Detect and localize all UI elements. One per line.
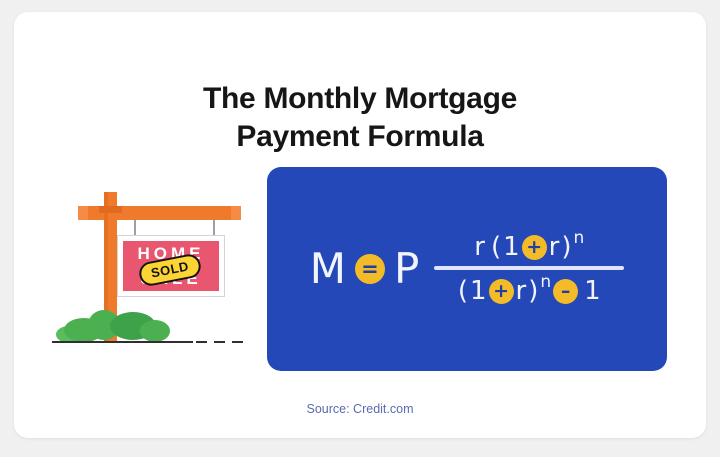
formula-variable-m: M (310, 248, 346, 290)
source-caption: Source: Credit.com (14, 402, 706, 416)
page-title: The Monthly Mortgage Payment Formula (14, 80, 706, 157)
ground-line (52, 341, 193, 343)
denominator-rate: r (516, 276, 527, 306)
plus-operator-badge-denominator: + (489, 279, 514, 304)
home-sale-sign-board: HOME SALE SOLD (117, 235, 225, 297)
equals-operator-badge: = (355, 254, 385, 284)
crossbeam-cap-left (78, 206, 88, 220)
numerator-one: 1 (503, 232, 520, 262)
denominator-open-paren: ( (458, 276, 468, 306)
page-title-line-1: The Monthly Mortgage (14, 80, 706, 118)
sign-post-collar (99, 206, 122, 213)
denominator-close-paren: ) (528, 276, 538, 306)
sign-hang-wire-left (134, 220, 136, 236)
denominator-exponent-n: n (540, 272, 551, 292)
crossbeam-cap-right (231, 206, 241, 220)
numerator-close-paren: ) (561, 232, 571, 262)
denominator-one: 1 (470, 276, 487, 306)
real-estate-sign-illustration: HOME SALE SOLD (44, 184, 269, 369)
numerator-rate-2: r (549, 232, 560, 262)
numerator-open-paren: ( (491, 232, 501, 262)
formula-expression: M = P r ( 1 + r ) n ( 1 + r (267, 167, 667, 371)
fraction-numerator: r ( 1 + r ) n (474, 232, 584, 266)
bush-shape (140, 320, 170, 342)
formula-fraction: r ( 1 + r ) n ( 1 + r ) n – 1 (434, 232, 624, 306)
page-title-line-2: Payment Formula (14, 118, 706, 156)
ground-line-dashed (196, 341, 250, 343)
formula-variable-p: P (394, 248, 419, 290)
numerator-rate: r (474, 232, 485, 262)
denominator-trailing-one: 1 (584, 276, 601, 306)
formula-panel: M = P r ( 1 + r ) n ( 1 + r (267, 167, 667, 371)
infographic-card: The Monthly Mortgage Payment Formula HOM… (14, 12, 706, 438)
sign-hang-wire-right (213, 220, 215, 236)
minus-operator-badge: – (553, 279, 578, 304)
fraction-denominator: ( 1 + r ) n – 1 (458, 270, 601, 306)
plus-operator-badge-numerator: + (522, 235, 547, 260)
sign-inner-panel: HOME SALE SOLD (123, 241, 219, 291)
numerator-exponent-n: n (574, 228, 585, 248)
